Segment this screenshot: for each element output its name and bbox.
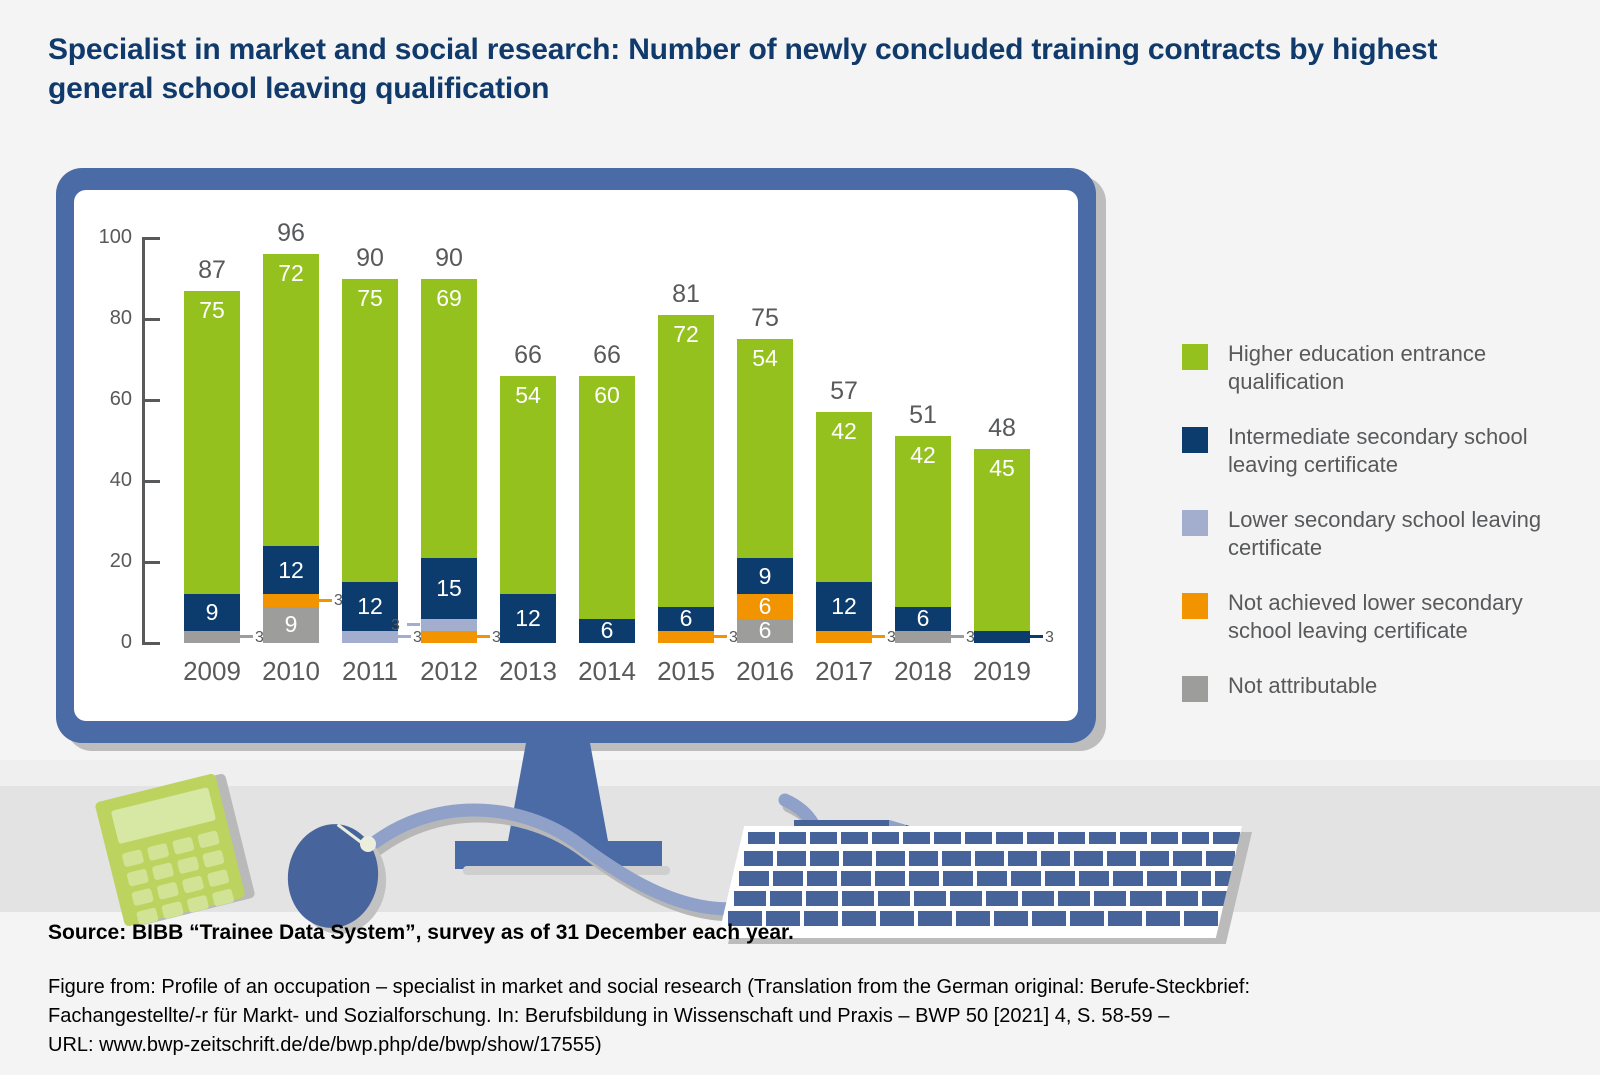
bar-segment-grey	[895, 631, 951, 643]
keyboard-row	[748, 832, 1240, 844]
bar-segment-green: 54	[737, 339, 793, 558]
monitor-screen: 100806040200 397587931272963127590331569…	[74, 190, 1078, 721]
bar-segment-green: 42	[816, 412, 872, 582]
segment-value-label: 60	[594, 384, 620, 407]
segment-value-label: 12	[357, 595, 383, 618]
bar-segment-navy: 12	[500, 594, 556, 643]
bar-2013: 125466	[500, 238, 556, 643]
figure-from-line-2: Fachangestellte/-r für Markt- und Sozial…	[48, 1002, 1548, 1031]
keyboard-key	[1094, 891, 1126, 906]
segment-value-label: 9	[759, 565, 772, 588]
keyboard-key	[975, 851, 1004, 866]
legend-label: Not achieved lower secondary school leav…	[1228, 589, 1582, 644]
keyboard-key	[748, 832, 775, 844]
bar-segment-green: 45	[974, 449, 1030, 631]
keyboard-key	[842, 891, 874, 906]
legend-swatch-green-icon	[1182, 344, 1208, 370]
keyboard-key	[872, 832, 899, 844]
segment-value-label: 12	[831, 595, 857, 618]
segment-value-label: 6	[917, 607, 930, 630]
keyboard-key	[841, 871, 871, 886]
bar-segment-navy: 9	[184, 594, 240, 630]
segment-leader-line	[714, 635, 727, 638]
y-axis-tick-label: 40	[80, 469, 132, 492]
y-axis-tick-label: 60	[80, 388, 132, 411]
y-axis-tick	[142, 480, 160, 483]
y-axis-tick-label: 100	[80, 226, 132, 249]
segment-value-label: 42	[910, 444, 936, 467]
legend-swatch-orange-icon	[1182, 593, 1208, 619]
bar-segment-lightblue	[342, 631, 398, 643]
keyboard-key	[1041, 851, 1070, 866]
keyboard-key	[1058, 891, 1090, 906]
bar-segment-grey	[184, 631, 240, 643]
calculator-key	[197, 830, 220, 848]
keyboard-key	[909, 851, 938, 866]
bar-2011: 3127590	[342, 238, 398, 643]
bar-segment-orange: 6	[737, 594, 793, 618]
segment-leader-line	[1030, 635, 1043, 638]
bar-segment-green: 69	[421, 279, 477, 558]
bar-segment-navy: 6	[658, 607, 714, 631]
bar-2015: 367281	[658, 238, 714, 643]
bar-segment-grey: 6	[737, 619, 793, 643]
keyboard-key	[744, 851, 773, 866]
keyboard-key	[1022, 891, 1054, 906]
bar-2018: 364251	[895, 238, 951, 643]
legend-swatch-grey-icon	[1182, 676, 1208, 702]
keyboard-key	[806, 891, 838, 906]
legend-item-2[interactable]: Lower secondary school leaving certifica…	[1182, 506, 1582, 561]
keyboard-key	[1140, 851, 1169, 866]
segment-callout-value: 3	[1045, 629, 1054, 647]
keyboard-key	[1058, 832, 1085, 844]
keyboard-key	[914, 891, 946, 906]
segment-value-label: 72	[673, 323, 699, 346]
keyboard-key	[1113, 871, 1143, 886]
bar-segment-grey: 9	[263, 607, 319, 643]
bar-2010: 93127296	[263, 238, 319, 643]
keyboard-key	[810, 851, 839, 866]
segment-value-label: 6	[759, 619, 772, 642]
keyboard-key	[875, 871, 905, 886]
calculator-key	[186, 895, 209, 913]
calculator-key	[161, 901, 184, 919]
segment-value-label: 72	[278, 262, 304, 285]
keyboard-key	[977, 871, 1007, 886]
bar-segment-navy: 6	[579, 619, 635, 643]
bar-segment-navy: 15	[421, 558, 477, 619]
bar-segment-lightblue	[421, 619, 477, 631]
calculator-key	[126, 868, 149, 886]
keyboard-key	[876, 851, 905, 866]
calculator-key	[182, 875, 205, 893]
segment-value-label: 54	[752, 347, 778, 370]
segment-value-label: 12	[515, 607, 541, 630]
bar-2019: 34548	[974, 238, 1030, 643]
bar-segment-green: 72	[263, 254, 319, 546]
calculator-key	[156, 882, 179, 900]
segment-value-label: 75	[357, 287, 383, 310]
segment-value-label: 42	[831, 420, 857, 443]
keyboard-key	[1173, 851, 1202, 866]
legend-item-0[interactable]: Higher education entrance qualification	[1182, 340, 1582, 395]
bar-2016: 6695475	[737, 238, 793, 643]
y-axis-tick	[142, 399, 160, 402]
y-axis-tick-label: 0	[80, 631, 132, 654]
bar-total-label: 66	[552, 341, 662, 370]
keyboard-key	[943, 871, 973, 886]
calculator-key	[131, 888, 154, 906]
bar-segment-navy: 12	[263, 546, 319, 595]
bar-segment-green: 54	[500, 376, 556, 595]
keyboard-key	[986, 891, 1018, 906]
keyboard-key	[1130, 891, 1162, 906]
segment-value-label: 69	[436, 287, 462, 310]
keyboard-key	[777, 851, 806, 866]
calculator-key	[177, 856, 200, 874]
bar-total-label: 90	[394, 244, 504, 273]
keyboard-key	[807, 871, 837, 886]
y-axis-tick	[142, 561, 160, 564]
segment-leader-line	[872, 635, 885, 638]
bar-segment-orange	[816, 631, 872, 643]
keyboard-key	[965, 832, 992, 844]
bar-segment-orange	[658, 631, 714, 643]
bar-segment-green: 75	[342, 279, 398, 583]
legend-label: Lower secondary school leaving certifica…	[1228, 506, 1582, 561]
bar-segment-green: 72	[658, 315, 714, 607]
keyboard-row	[744, 851, 1235, 866]
segment-leader-line	[398, 635, 411, 638]
keyboard-key	[1181, 871, 1211, 886]
bar-2009: 397587	[184, 238, 240, 643]
segment-leader-line	[407, 623, 420, 626]
keyboard-key	[942, 851, 971, 866]
bar-total-label: 87	[157, 256, 267, 285]
segment-value-label: 6	[759, 595, 772, 618]
x-axis-label-2019: 2019	[947, 656, 1057, 687]
segment-value-label: 6	[601, 619, 614, 642]
bar-2017: 3124257	[816, 238, 872, 643]
keyboard-key	[996, 832, 1023, 844]
legend-swatch-navy-icon	[1182, 427, 1208, 453]
bar-total-label: 75	[710, 304, 820, 333]
legend-label: Intermediate secondary school leaving ce…	[1228, 423, 1582, 478]
keyboard-key	[1011, 871, 1041, 886]
figure-from-block: Figure from: Profile of an occupation – …	[48, 973, 1548, 1060]
legend-swatch-lightblue-icon	[1182, 510, 1208, 536]
calculator-key	[202, 850, 225, 868]
keyboard-key	[1120, 832, 1147, 844]
plot-area: 100806040200 397587931272963127590331569…	[142, 238, 1042, 643]
y-axis-tick-label: 20	[80, 550, 132, 573]
legend-item-3[interactable]: Not achieved lower secondary school leav…	[1182, 589, 1582, 644]
segment-value-label: 9	[206, 601, 219, 624]
figure-from-line-3: URL: www.bwp-zeitschrift.de/de/bwp.php/d…	[48, 1031, 1548, 1060]
stacked-bar-chart: 100806040200 397587931272963127590331569…	[74, 190, 1078, 721]
segment-value-label: 45	[989, 457, 1015, 480]
segment-value-label: 6	[680, 607, 693, 630]
bar-segment-navy: 12	[816, 582, 872, 631]
keyboard-key	[1008, 851, 1037, 866]
source-line: Source: BIBB “Trainee Data System”, surv…	[48, 918, 1548, 947]
bar-segment-green: 60	[579, 376, 635, 619]
bar-segment-orange	[263, 594, 319, 606]
keyboard-key	[1213, 832, 1240, 844]
keyboard-key	[1182, 832, 1209, 844]
segment-value-label: 75	[199, 299, 225, 322]
keyboard-key	[1206, 851, 1235, 866]
keyboard-key	[878, 891, 910, 906]
keyboard-key	[734, 891, 766, 906]
bar-segment-green: 75	[184, 291, 240, 595]
keyboard-key	[934, 832, 961, 844]
keyboard-key	[950, 891, 982, 906]
figure-from-line-1: Figure from: Profile of an occupation – …	[48, 973, 1548, 1002]
chart-legend: Higher education entrance qualificationI…	[1182, 340, 1582, 730]
legend-label: Not attributable	[1228, 672, 1377, 700]
calculator-key	[212, 888, 235, 906]
keyboard-key	[1147, 871, 1177, 886]
bar-segment-navy: 12	[342, 582, 398, 631]
keyboard-key	[773, 871, 803, 886]
y-axis-tick	[142, 642, 160, 645]
calculator-key	[172, 836, 195, 854]
calculator-key	[152, 862, 175, 880]
y-axis-tick	[142, 318, 160, 321]
bar-segment-navy: 9	[737, 558, 793, 594]
keyboard-key	[1089, 832, 1116, 844]
legend-label: Higher education entrance qualification	[1228, 340, 1582, 395]
segment-value-label: 12	[278, 559, 304, 582]
segment-leader-line	[951, 635, 964, 638]
calculator-key	[121, 849, 144, 867]
keyboard-key	[1074, 851, 1103, 866]
segment-value-label: 9	[285, 613, 298, 636]
bar-segment-green: 42	[895, 436, 951, 606]
segment-leader-line	[240, 635, 253, 638]
keyboard-key	[1107, 851, 1136, 866]
bar-segment-navy: 6	[895, 607, 951, 631]
keyboard-key	[739, 871, 769, 886]
segment-callout-value: 3	[391, 617, 400, 635]
y-axis-tick-label: 80	[80, 307, 132, 330]
keyboard-row	[739, 871, 1245, 886]
segment-leader-line	[319, 599, 332, 602]
calculator-key	[147, 843, 170, 861]
keyboard-key	[841, 832, 868, 844]
keyboard-key	[909, 871, 939, 886]
legend-item-4[interactable]: Not attributable	[1182, 672, 1582, 702]
y-axis-line	[142, 238, 145, 643]
bar-2014: 66066	[579, 238, 635, 643]
legend-item-1[interactable]: Intermediate secondary school leaving ce…	[1182, 423, 1582, 478]
footer: Source: BIBB “Trainee Data System”, surv…	[48, 918, 1548, 1060]
segment-leader-line	[477, 635, 490, 638]
segment-value-label: 54	[515, 384, 541, 407]
keyboard-key	[770, 891, 802, 906]
keyboard-key	[810, 832, 837, 844]
keyboard-row	[734, 891, 1234, 906]
keyboard-key	[1166, 891, 1198, 906]
bar-2012: 33156990	[421, 238, 477, 643]
segment-value-label: 15	[436, 577, 462, 600]
calculator-key	[207, 869, 230, 887]
keyboard-key	[1027, 832, 1054, 844]
bar-total-label: 48	[947, 414, 1057, 443]
keyboard-key	[1045, 871, 1075, 886]
keyboard-key	[843, 851, 872, 866]
keyboard-key	[903, 832, 930, 844]
bar-segment-orange	[421, 631, 477, 643]
y-axis-tick	[142, 237, 160, 240]
bar-segment-navy	[974, 631, 1030, 643]
keyboard-key	[1079, 871, 1109, 886]
calculator-illustration	[104, 786, 254, 912]
keyboard-key	[779, 832, 806, 844]
keyboard-key	[1151, 832, 1178, 844]
